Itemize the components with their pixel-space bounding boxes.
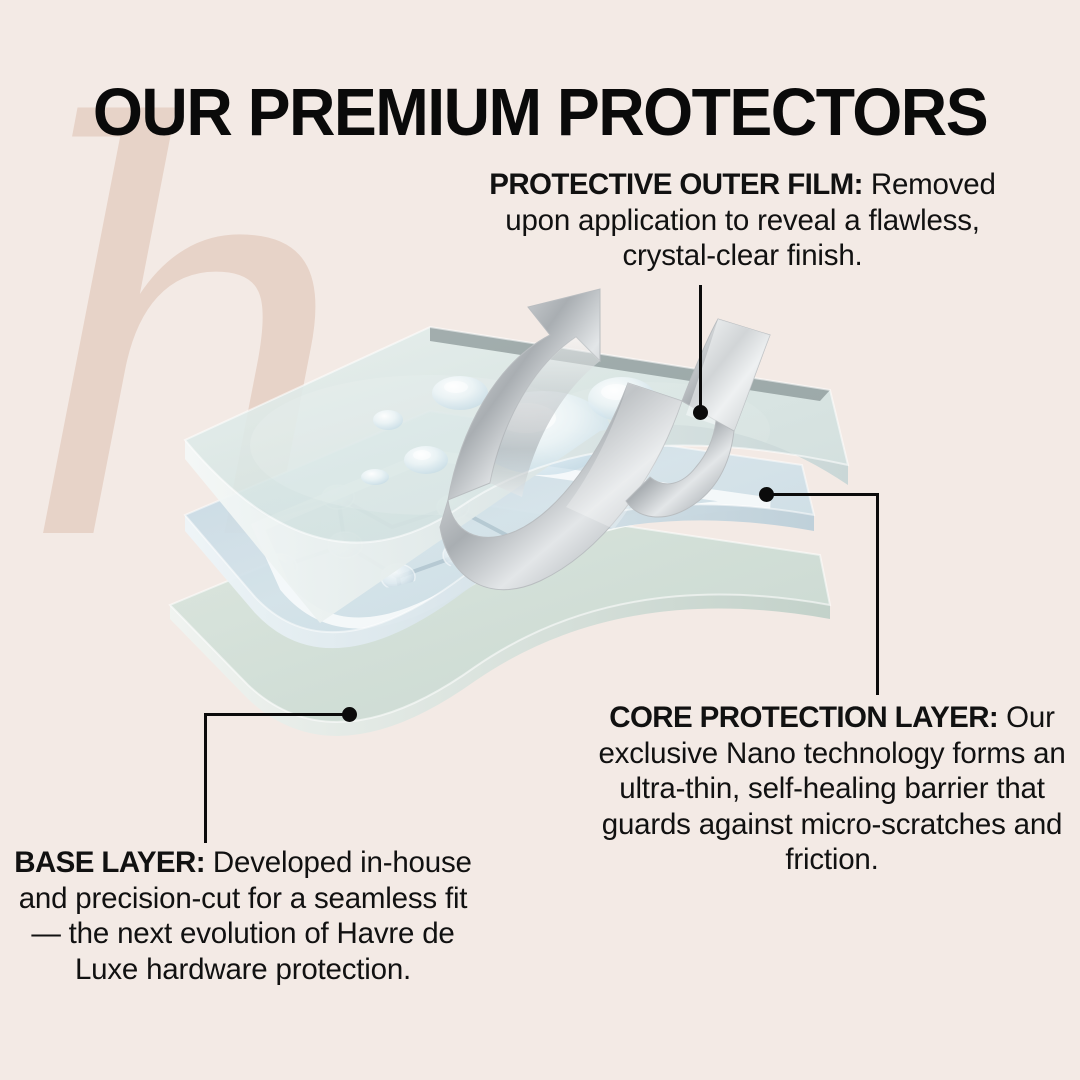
infographic-canvas: h bbox=[0, 0, 1080, 1080]
leader-film-dot bbox=[693, 405, 708, 420]
leader-base-dot bbox=[342, 707, 357, 722]
leader-base-arm bbox=[204, 713, 349, 716]
leader-core-dot bbox=[759, 487, 774, 502]
callout-film-lead: PROTECTIVE OUTER FILM: bbox=[489, 168, 863, 201]
leader-film-stem bbox=[699, 285, 702, 413]
page-title: OUR PREMIUM PROTECTORS bbox=[22, 79, 1059, 146]
leader-base-stem bbox=[204, 713, 207, 843]
callout-core-lead: CORE PROTECTION LAYER: bbox=[609, 701, 998, 734]
callout-core-protection-layer: CORE PROTECTION LAYER: Our exclusive Nan… bbox=[598, 700, 1066, 878]
leader-core-arm bbox=[767, 493, 879, 496]
callout-base-layer: BASE LAYER: Developed in-house and preci… bbox=[8, 845, 478, 987]
callout-base-lead: BASE LAYER: bbox=[14, 846, 205, 879]
callout-protective-outer-film: PROTECTIVE OUTER FILM: Removed upon appl… bbox=[455, 167, 1030, 274]
leader-core-stem bbox=[876, 493, 879, 695]
